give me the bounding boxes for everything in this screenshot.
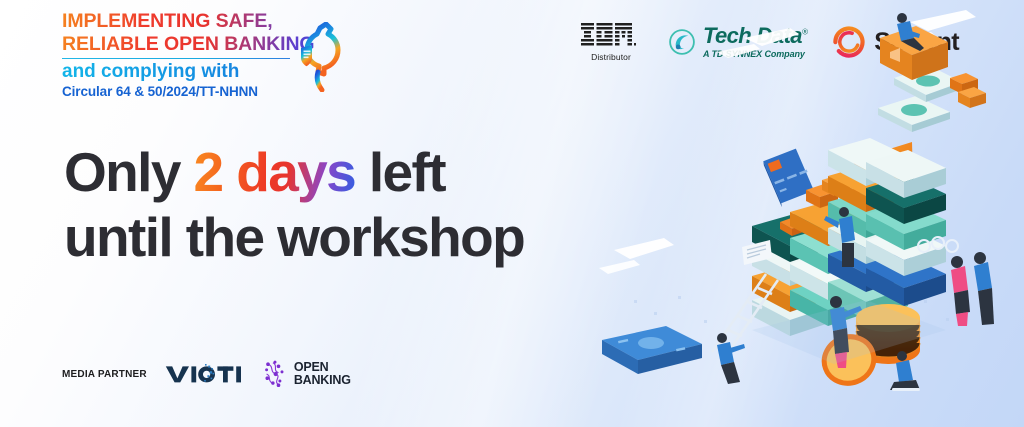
open-banking-wordmark: OPEN BANKING bbox=[294, 361, 351, 387]
headline-line-2: until the workshop bbox=[64, 205, 524, 270]
isometric-fintech-illustration bbox=[594, 0, 1024, 427]
cash-stack-icon bbox=[602, 326, 702, 374]
headline-prefix: Only bbox=[64, 141, 194, 203]
headline: Only 2 days left until the workshop bbox=[64, 140, 524, 270]
floating-cubes-right bbox=[950, 73, 986, 108]
promo-banner: IMPLEMENTING SAFE, RELIABLE OPEN BANKING… bbox=[0, 0, 1024, 427]
open-banking-nodes-icon bbox=[263, 360, 287, 388]
vioti-logo-icon bbox=[165, 362, 245, 386]
media-partner-label: MEDIA PARTNER bbox=[62, 369, 147, 380]
headline-accent: 2 days bbox=[194, 141, 356, 203]
gear-shield-icon bbox=[298, 22, 344, 92]
headline-suffix: left bbox=[355, 141, 445, 203]
open-banking-line-2: BANKING bbox=[294, 374, 351, 387]
person-pair-right bbox=[951, 252, 994, 326]
person-on-ladder bbox=[717, 333, 745, 384]
headline-line-1: Only 2 days left bbox=[64, 140, 524, 205]
media-partners: MEDIA PARTNER bbox=[62, 360, 351, 388]
logo-open-banking: OPEN BANKING bbox=[263, 360, 351, 388]
logo-vioti bbox=[165, 362, 245, 386]
block-tower-right bbox=[866, 150, 946, 306]
event-title-divider bbox=[62, 58, 290, 60]
